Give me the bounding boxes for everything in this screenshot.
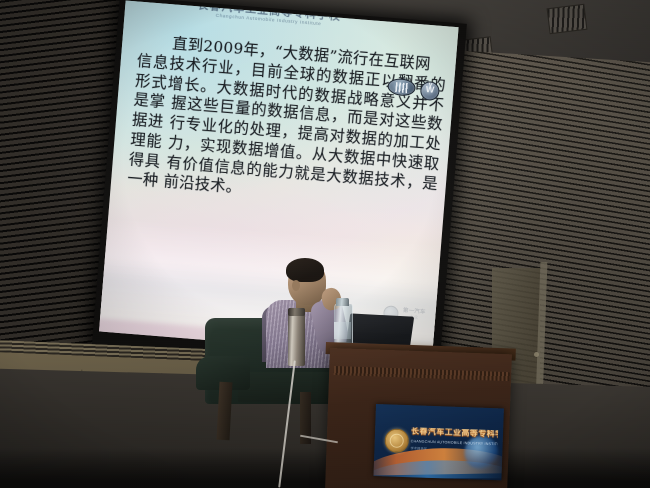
podium-banner-plaque: 长春汽车工业高等专科学校 CHANGCHUN AUTOMOBILE INDUST… — [373, 404, 503, 480]
armchair-seat — [238, 372, 338, 402]
plaque-title: 长春汽车工业高等专科学校 — [411, 427, 498, 438]
speaker-ear — [292, 280, 300, 291]
lecture-hall-photo: 长春汽车工业高等专科学校 Changchun Automobile Indust… — [0, 0, 650, 488]
water-bottle-cap — [336, 298, 349, 306]
plaque-seal-icon — [384, 428, 409, 453]
speaker-hair — [286, 258, 324, 282]
ceiling-vent-right-icon — [547, 4, 588, 34]
door-handle-icon — [534, 352, 539, 357]
water-bottle-label — [334, 322, 351, 339]
thermos-flask — [288, 312, 305, 366]
thermos-cap — [288, 308, 305, 316]
